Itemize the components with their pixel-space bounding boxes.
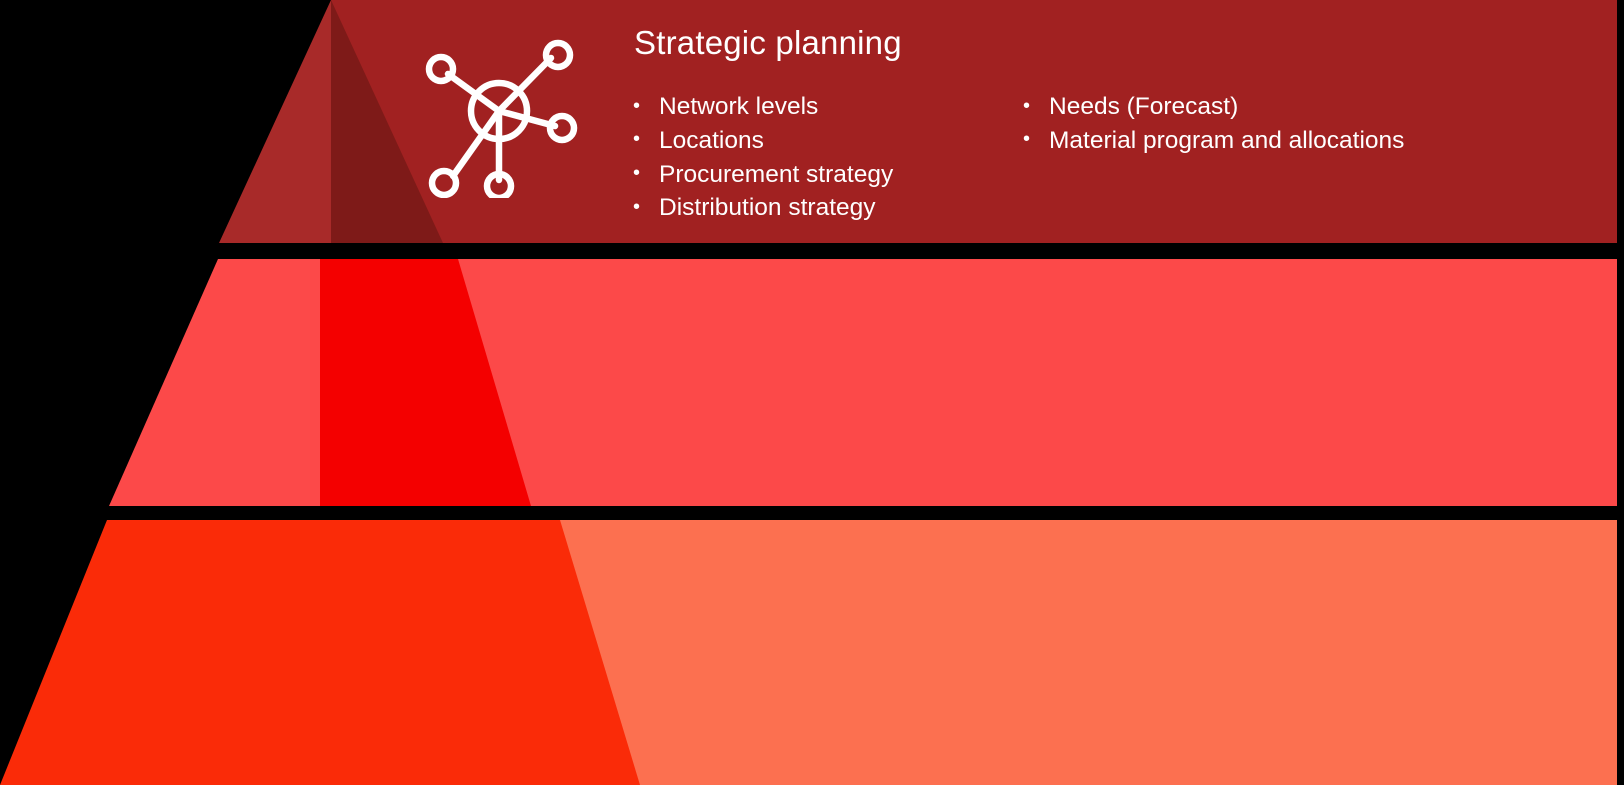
tier-strategic-bullet-columns: Network levels Locations Procurement str… (628, 90, 1418, 225)
bullet-list: Network levels Locations Procurement str… (628, 90, 1018, 225)
list-item: Procurement strategy (628, 158, 1018, 192)
pyramid-diagram: Strategic planning Network levels Locati… (0, 0, 1624, 785)
tier-strategic-column-2: Needs (Forecast) Material program and al… (1018, 90, 1418, 225)
tier-tactical-planning: Tactical planning Supply strategies Dist… (0, 259, 1624, 506)
list-item: Distribution strategy (628, 191, 1018, 225)
tier-tactical-content: Tactical planning Supply strategies Dist… (0, 259, 1624, 506)
list-item: Network levels (628, 90, 1018, 124)
network-hub-icon (424, 38, 579, 198)
tier-operative-content: Operative planning Ordering and replenis… (0, 520, 1624, 785)
list-item: Needs (Forecast) (1018, 90, 1418, 124)
tier-strategic-title: Strategic planning (634, 24, 902, 62)
tier-operative-planning: Operative planning Ordering and replenis… (0, 520, 1624, 785)
tier-strategic-planning: Strategic planning Network levels Locati… (0, 0, 1617, 243)
bullet-list: Needs (Forecast) Material program and al… (1018, 90, 1418, 158)
list-item: Locations (628, 124, 1018, 158)
tier-strategic-content: Strategic planning Network levels Locati… (0, 0, 1617, 243)
tier-strategic-column-1: Network levels Locations Procurement str… (628, 90, 1018, 225)
list-item: Material program and allocations (1018, 124, 1418, 158)
